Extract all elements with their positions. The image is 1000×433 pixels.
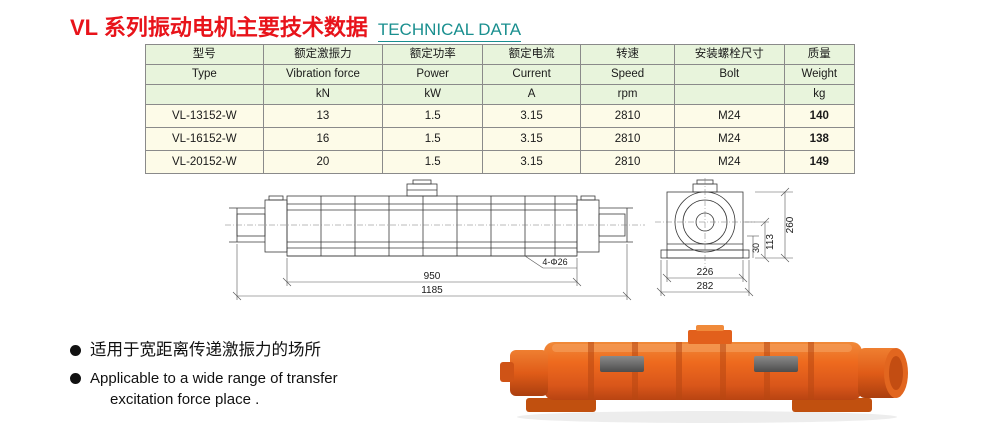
th-vibration-force-unit: kN: [263, 85, 383, 105]
cell-speed: 2810: [581, 151, 675, 174]
dim-226: 226: [697, 267, 714, 278]
cell-bolt: M24: [675, 151, 784, 174]
page-title-cn: VL 系列振动电机主要技术数据: [70, 10, 368, 42]
th-bolt-cn: 安装螺栓尺寸: [675, 45, 784, 65]
table-row: VL-16152-W 16 1.5 3.15 2810 M24 138: [146, 128, 855, 151]
table-row: VL-20152-W 20 1.5 3.15 2810 M24 149: [146, 151, 855, 174]
th-bolt-en: Bolt: [675, 65, 784, 85]
cell-bolt: M24: [675, 128, 784, 151]
cell-weight: 149: [784, 151, 854, 174]
th-power-cn: 额定功率: [383, 45, 483, 65]
bullet-text-en-line2: excitation force place .: [110, 391, 259, 408]
th-current-en: Current: [483, 65, 581, 85]
th-speed-unit: rpm: [581, 85, 675, 105]
dim-1185: 1185: [421, 285, 443, 296]
th-power-en: Power: [383, 65, 483, 85]
th-weight-unit: kg: [784, 85, 854, 105]
technical-drawing: 950 1185 4-Φ26 226 282 260 113 30: [225, 178, 815, 318]
cell-current: 3.15: [483, 105, 581, 128]
bullet-en: Applicable to a wide range of transfer e…: [70, 368, 490, 410]
table-body: VL-13152-W 13 1.5 3.15 2810 M24 140 VL-1…: [146, 105, 855, 174]
cell-type: VL-20152-W: [146, 151, 264, 174]
th-weight-cn: 质量: [784, 45, 854, 65]
cell-type: VL-13152-W: [146, 105, 264, 128]
feature-bullets: 适用于宽距离传递激振力的场所 Applicable to a wide rang…: [70, 340, 490, 417]
dim-113: 113: [765, 234, 776, 250]
technical-data-table: 型号 额定激振力 额定功率 额定电流 转速 安装螺栓尺寸 质量 Type Vib…: [145, 44, 855, 174]
cell-weight: 140: [784, 105, 854, 128]
bullet-dot-icon: [70, 373, 81, 384]
th-bolt-unit: [675, 85, 784, 105]
bullet-text-en: Applicable to a wide range of transfer e…: [90, 368, 338, 410]
th-type-unit: [146, 85, 264, 105]
bullet-text-cn: 适用于宽距离传递激振力的场所: [90, 340, 321, 361]
th-speed-en: Speed: [581, 65, 675, 85]
page-title: VL 系列振动电机主要技术数据 TECHNICAL DATA: [70, 10, 521, 42]
cell-vibration-force: 20: [263, 151, 383, 174]
th-current-unit: A: [483, 85, 581, 105]
cell-speed: 2810: [581, 105, 675, 128]
table-header-row-unit: kN kW A rpm kg: [146, 85, 855, 105]
bullet-dot-icon: [70, 345, 81, 356]
th-weight-en: Weight: [784, 65, 854, 85]
dim-282: 282: [697, 281, 714, 292]
th-speed-cn: 转速: [581, 45, 675, 65]
cell-current: 3.15: [483, 128, 581, 151]
dim-950: 950: [424, 271, 441, 282]
cell-vibration-force: 16: [263, 128, 383, 151]
th-type-en: Type: [146, 65, 264, 85]
dim-30: 30: [751, 243, 761, 253]
cell-power: 1.5: [383, 105, 483, 128]
cell-current: 3.15: [483, 151, 581, 174]
table-header-row-cn: 型号 额定激振力 额定功率 额定电流 转速 安装螺栓尺寸 质量: [146, 45, 855, 65]
cell-speed: 2810: [581, 128, 675, 151]
cell-bolt: M24: [675, 105, 784, 128]
table-row: VL-13152-W 13 1.5 3.15 2810 M24 140: [146, 105, 855, 128]
cell-power: 1.5: [383, 128, 483, 151]
cell-vibration-force: 13: [263, 105, 383, 128]
th-power-unit: kW: [383, 85, 483, 105]
th-type-cn: 型号: [146, 45, 264, 65]
product-photo: [492, 320, 922, 428]
table-header-row-en: Type Vibration force Power Current Speed…: [146, 65, 855, 85]
bullet-cn: 适用于宽距离传递激振力的场所: [70, 340, 490, 361]
cell-type: VL-16152-W: [146, 128, 264, 151]
page-title-en: TECHNICAL DATA: [378, 20, 521, 42]
cell-power: 1.5: [383, 151, 483, 174]
th-vibration-force-cn: 额定激振力: [263, 45, 383, 65]
cell-weight: 138: [784, 128, 854, 151]
dim-260: 260: [785, 216, 796, 233]
table-header: 型号 额定激振力 额定功率 额定电流 转速 安装螺栓尺寸 质量 Type Vib…: [146, 45, 855, 105]
th-current-cn: 额定电流: [483, 45, 581, 65]
th-vibration-force-en: Vibration force: [263, 65, 383, 85]
bullet-text-en-line1: Applicable to a wide range of transfer: [90, 370, 338, 387]
dim-bolt-note: 4-Φ26: [542, 257, 567, 267]
